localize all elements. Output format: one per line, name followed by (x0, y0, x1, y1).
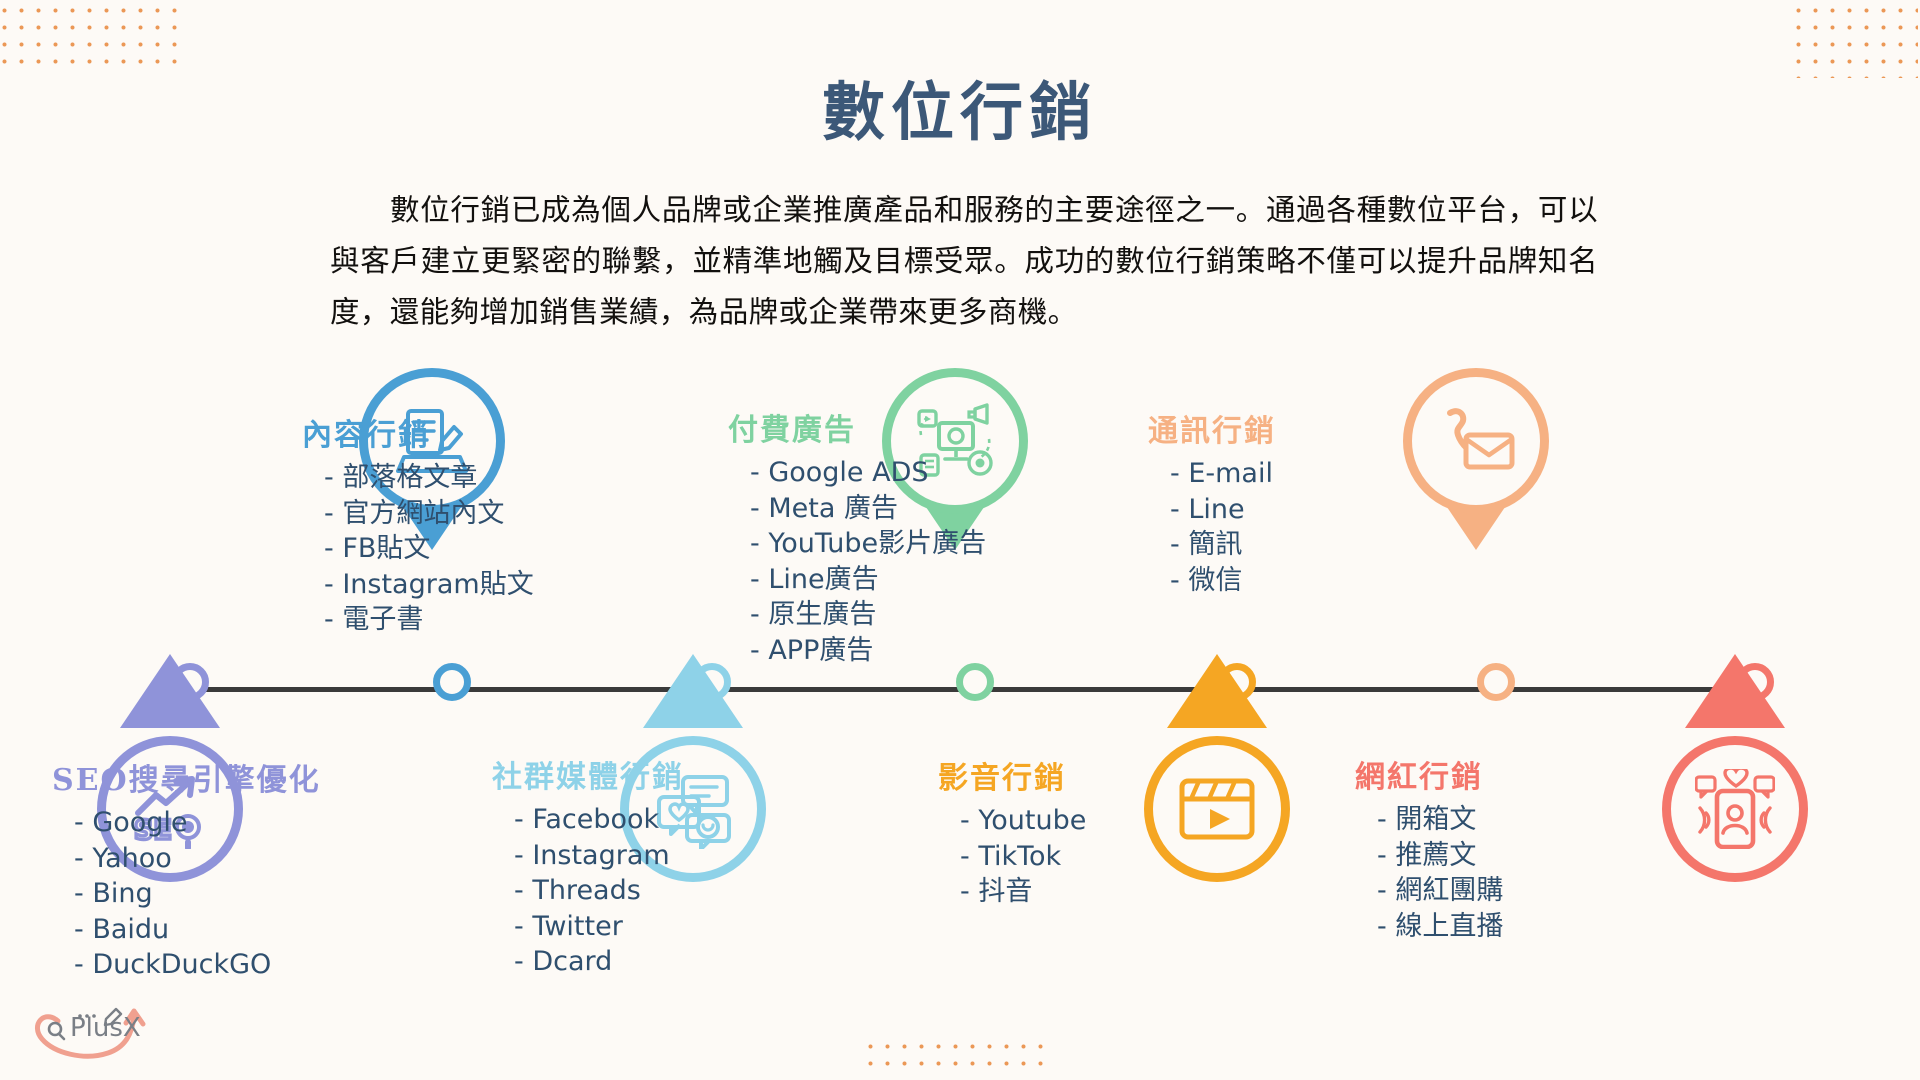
section-block-content-marketing: 內容行銷部落格文章官方網站內文FB貼文Instagram貼文電子書 (302, 410, 534, 638)
timeline-node-messaging-marketing[interactable] (1477, 663, 1515, 701)
section-list-paid-advertising: Google ADSMeta 廣告YouTube影片廣告Line廣告原生廣告AP… (728, 455, 986, 668)
section-list-video-marketing: YoutubeTikTok抖音 (938, 803, 1086, 910)
list-item: DuckDuckGO (74, 947, 321, 983)
phone-email-icon (1436, 401, 1516, 481)
list-item: Google ADS (750, 455, 986, 491)
list-item: 簡訊 (1170, 527, 1276, 563)
timeline-node-paid-advertising[interactable] (956, 663, 994, 701)
section-block-influencer-marketing: 網紅行銷開箱文推薦文網紅團購線上直播 (1355, 752, 1503, 944)
section-list-content-marketing: 部落格文章官方網站內文FB貼文Instagram貼文電子書 (302, 460, 534, 638)
list-item: Yahoo (74, 841, 321, 877)
list-item: Dcard (514, 944, 684, 980)
list-item: 官方網站內文 (324, 496, 534, 532)
section-block-paid-advertising: 付費廣告Google ADSMeta 廣告YouTube影片廣告Line廣告原生… (728, 405, 986, 668)
section-block-messaging-marketing: 通訊行銷E-mailLine簡訊微信 (1148, 406, 1276, 598)
list-item: 電子書 (324, 602, 534, 638)
list-item: Twitter (514, 909, 684, 945)
list-item: Google (74, 805, 321, 841)
list-item: E-mail (1170, 456, 1276, 492)
section-list-influencer-marketing: 開箱文推薦文網紅團購線上直播 (1355, 802, 1503, 944)
list-item: Line (1170, 492, 1276, 528)
list-item: 部落格文章 (324, 460, 534, 496)
list-item: TikTok (960, 839, 1086, 875)
section-list-seo: GoogleYahooBingBaiduDuckDuckGO (52, 805, 321, 983)
section-heading-content-marketing: 內容行銷 (302, 410, 534, 454)
section-heading-social-media-marketing: 社群媒體行銷 (492, 752, 684, 796)
list-item: FB貼文 (324, 531, 534, 567)
section-block-video-marketing: 影音行銷YoutubeTikTok抖音 (938, 753, 1086, 910)
brand-logo: PlusX (22, 995, 172, 1065)
list-item: 原生廣告 (750, 597, 986, 633)
pin-tail (120, 654, 220, 728)
section-heading-paid-advertising: 付費廣告 (728, 405, 986, 449)
pin-video-marketing[interactable] (1144, 700, 1290, 882)
list-item: Youtube (960, 803, 1086, 839)
pin-tail (1167, 654, 1267, 728)
list-item: 線上直播 (1377, 909, 1503, 945)
list-item: 推薦文 (1377, 838, 1503, 874)
list-item: 網紅團購 (1377, 873, 1503, 909)
pin-tail (1685, 654, 1785, 728)
section-block-social-media-marketing: 社群媒體行銷FacebookInstagramThreadsTwitterDca… (492, 752, 684, 980)
page-title: 數位行銷 (0, 62, 1920, 153)
list-item: 抖音 (960, 874, 1086, 910)
list-item: Baidu (74, 912, 321, 948)
section-list-messaging-marketing: E-mailLine簡訊微信 (1148, 456, 1276, 598)
intro-paragraph: 數位行銷已成為個人品牌或企業推廣產品和服務的主要途徑之一。通過各種數位平台，可以… (330, 185, 1598, 338)
section-heading-influencer-marketing: 網紅行銷 (1355, 752, 1503, 796)
dot-pattern-bottom-center (862, 1038, 1052, 1078)
list-item: 開箱文 (1377, 802, 1503, 838)
phone-person-chat-icon (1695, 769, 1775, 849)
brand-wordmark: PlusX (70, 1013, 141, 1043)
list-item: Bing (74, 876, 321, 912)
section-heading-seo: SEO搜尋引擎優化 (52, 755, 321, 799)
list-item: Instagram (514, 838, 684, 874)
dot-pattern-top-left (0, 2, 178, 70)
list-item: Line廣告 (750, 562, 986, 598)
pin-influencer-marketing[interactable] (1662, 700, 1808, 882)
list-item: Meta 廣告 (750, 491, 986, 527)
list-item: Threads (514, 873, 684, 909)
list-item: Instagram貼文 (324, 567, 534, 603)
list-item: 微信 (1170, 563, 1276, 599)
list-item: Facebook (514, 802, 684, 838)
timeline-node-content-marketing[interactable] (433, 663, 471, 701)
list-item: YouTube影片廣告 (750, 526, 986, 562)
video-player-icon (1177, 769, 1257, 849)
section-block-seo: SEO搜尋引擎優化GoogleYahooBingBaiduDuckDuckGO (52, 755, 321, 983)
section-heading-video-marketing: 影音行銷 (938, 753, 1086, 797)
pin-messaging-marketing[interactable] (1403, 368, 1549, 550)
section-list-social-media-marketing: FacebookInstagramThreadsTwitterDcard (492, 802, 684, 980)
list-item: APP廣告 (750, 633, 986, 669)
section-heading-messaging-marketing: 通訊行銷 (1148, 406, 1276, 450)
